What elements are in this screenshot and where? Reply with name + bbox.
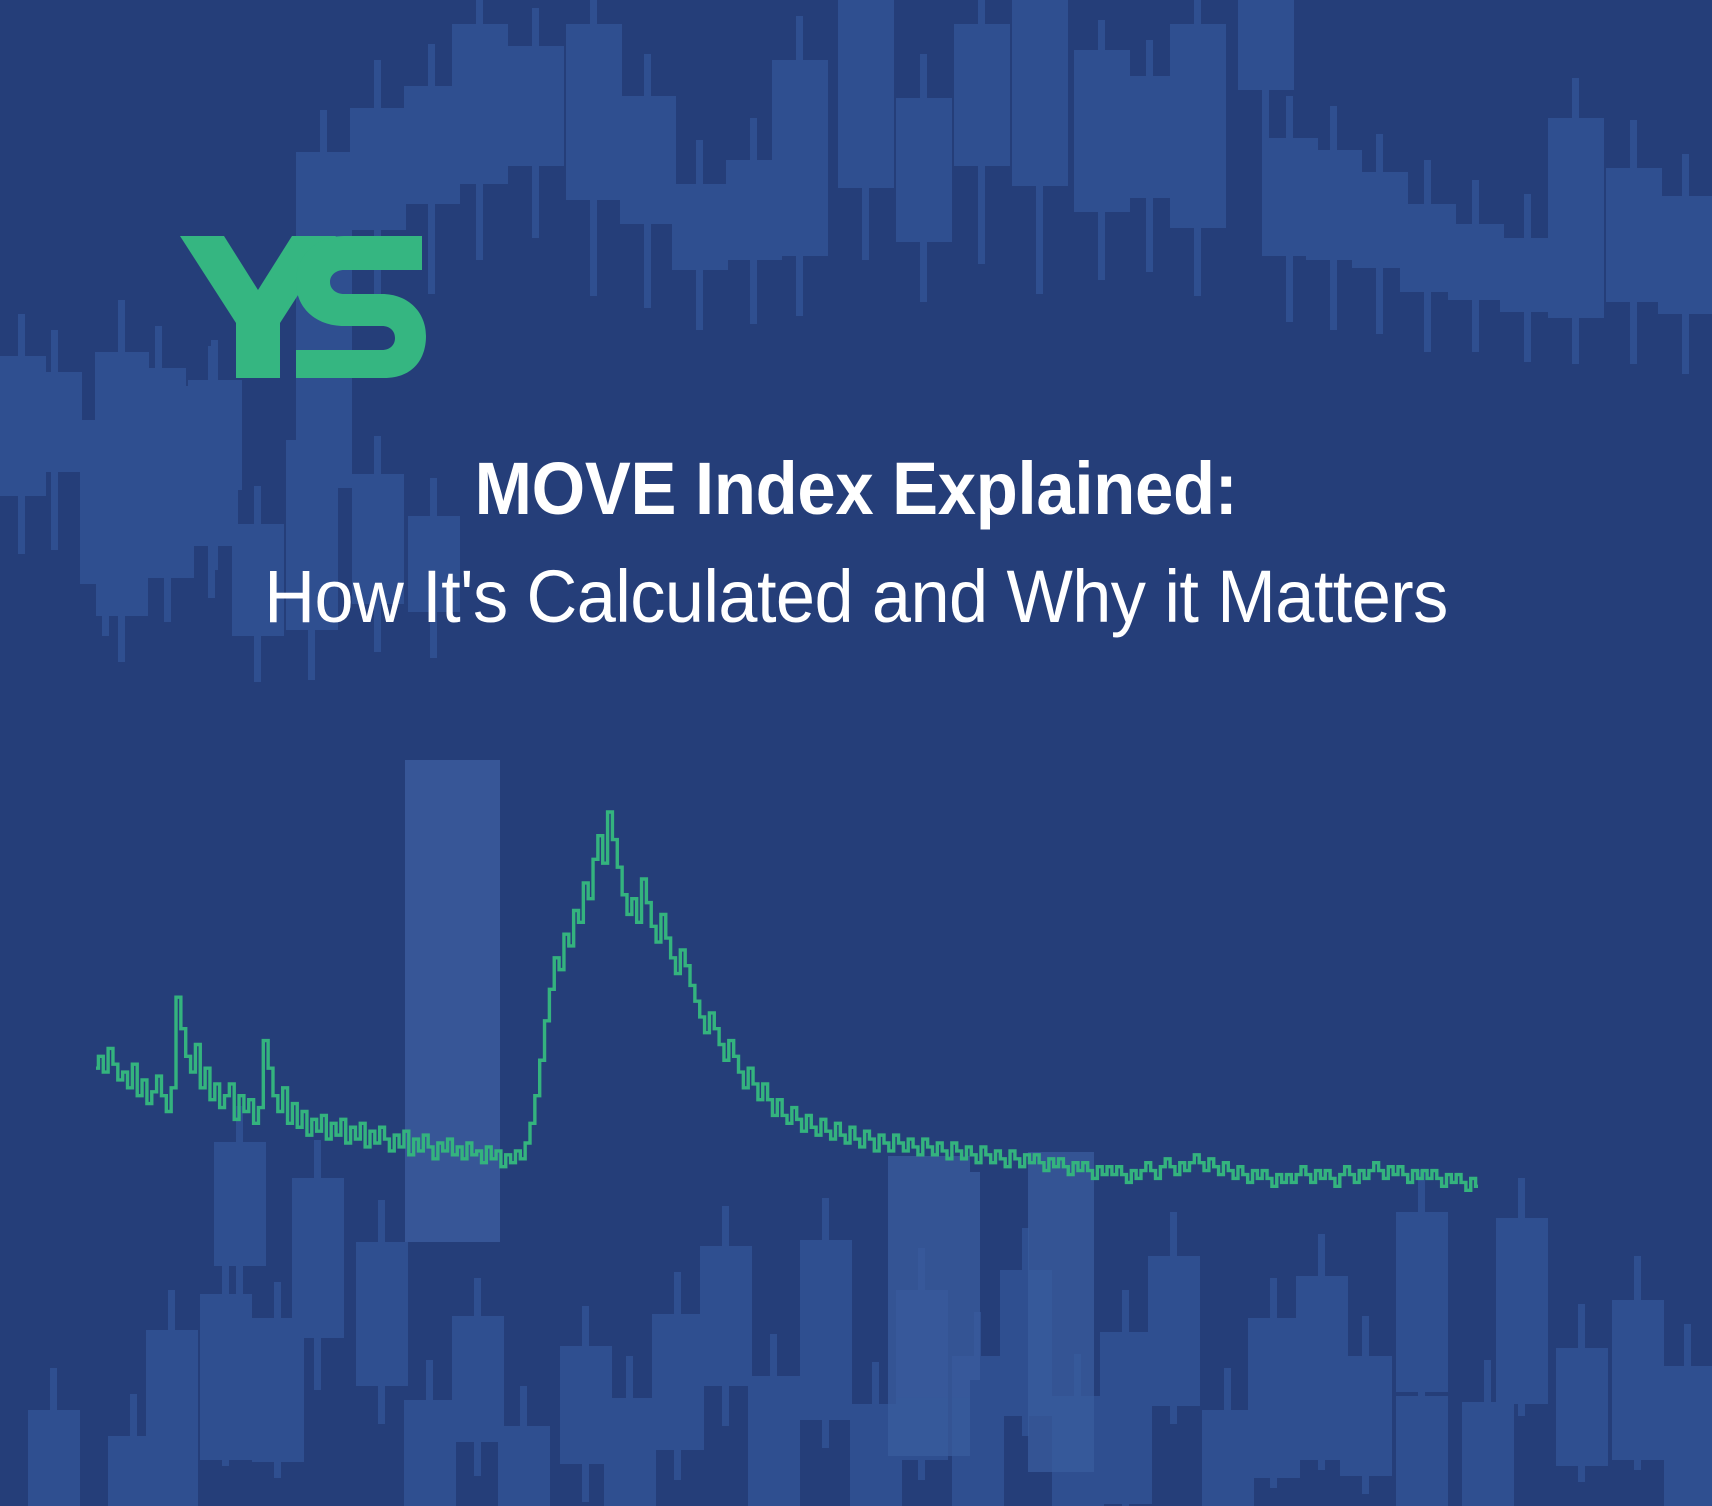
headline-block: MOVE Index Explained: How It's Calculate… bbox=[0, 448, 1712, 640]
xs-logo-mark bbox=[176, 228, 426, 378]
xs-logo[interactable] bbox=[176, 228, 426, 378]
page-subtitle: How It's Calculated and Why it Matters bbox=[43, 553, 1669, 640]
page-title: MOVE Index Explained: bbox=[60, 448, 1652, 531]
content-layer: MOVE Index Explained: How It's Calculate… bbox=[0, 0, 1712, 1506]
logo-letter-s bbox=[296, 236, 426, 378]
promo-card: MOVE Index Explained: How It's Calculate… bbox=[0, 0, 1712, 1506]
